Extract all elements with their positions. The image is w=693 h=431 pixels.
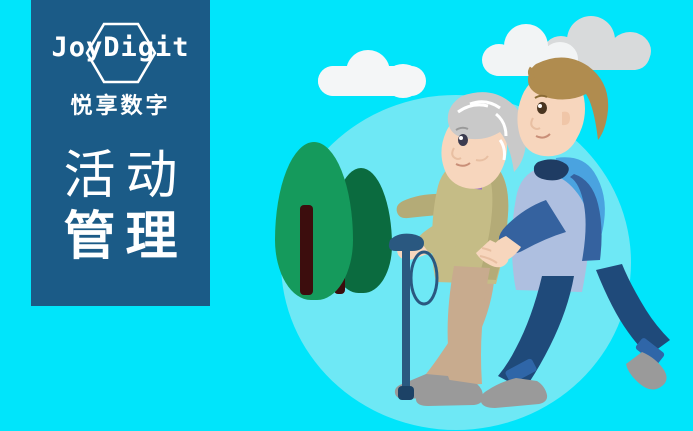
left-title-panel: JoyDigit 悦享数字 活动 管理	[31, 0, 210, 306]
man-back-leg	[596, 264, 670, 356]
logo-wordmark: JoyDigit	[41, 34, 201, 61]
elderly-front-leg	[448, 266, 490, 386]
cane-wrist-strap	[411, 252, 437, 304]
man-eye	[537, 102, 547, 114]
cane-tip	[398, 386, 414, 400]
brand-logo: JoyDigit 悦享数字	[41, 18, 201, 136]
poster-canvas: JoyDigit 悦享数字 活动 管理	[0, 0, 693, 431]
elderly-eye	[458, 134, 468, 146]
man-collar	[534, 159, 569, 180]
cane-handle	[389, 234, 424, 251]
man-front-shoe	[481, 378, 547, 408]
page-title-line1: 活动	[31, 146, 210, 207]
cane-shaft	[402, 243, 410, 391]
page-title-line2: 管理	[31, 207, 210, 268]
panel-title: 活动 管理	[31, 146, 210, 269]
logo-subtitle: 悦享数字	[41, 88, 201, 120]
